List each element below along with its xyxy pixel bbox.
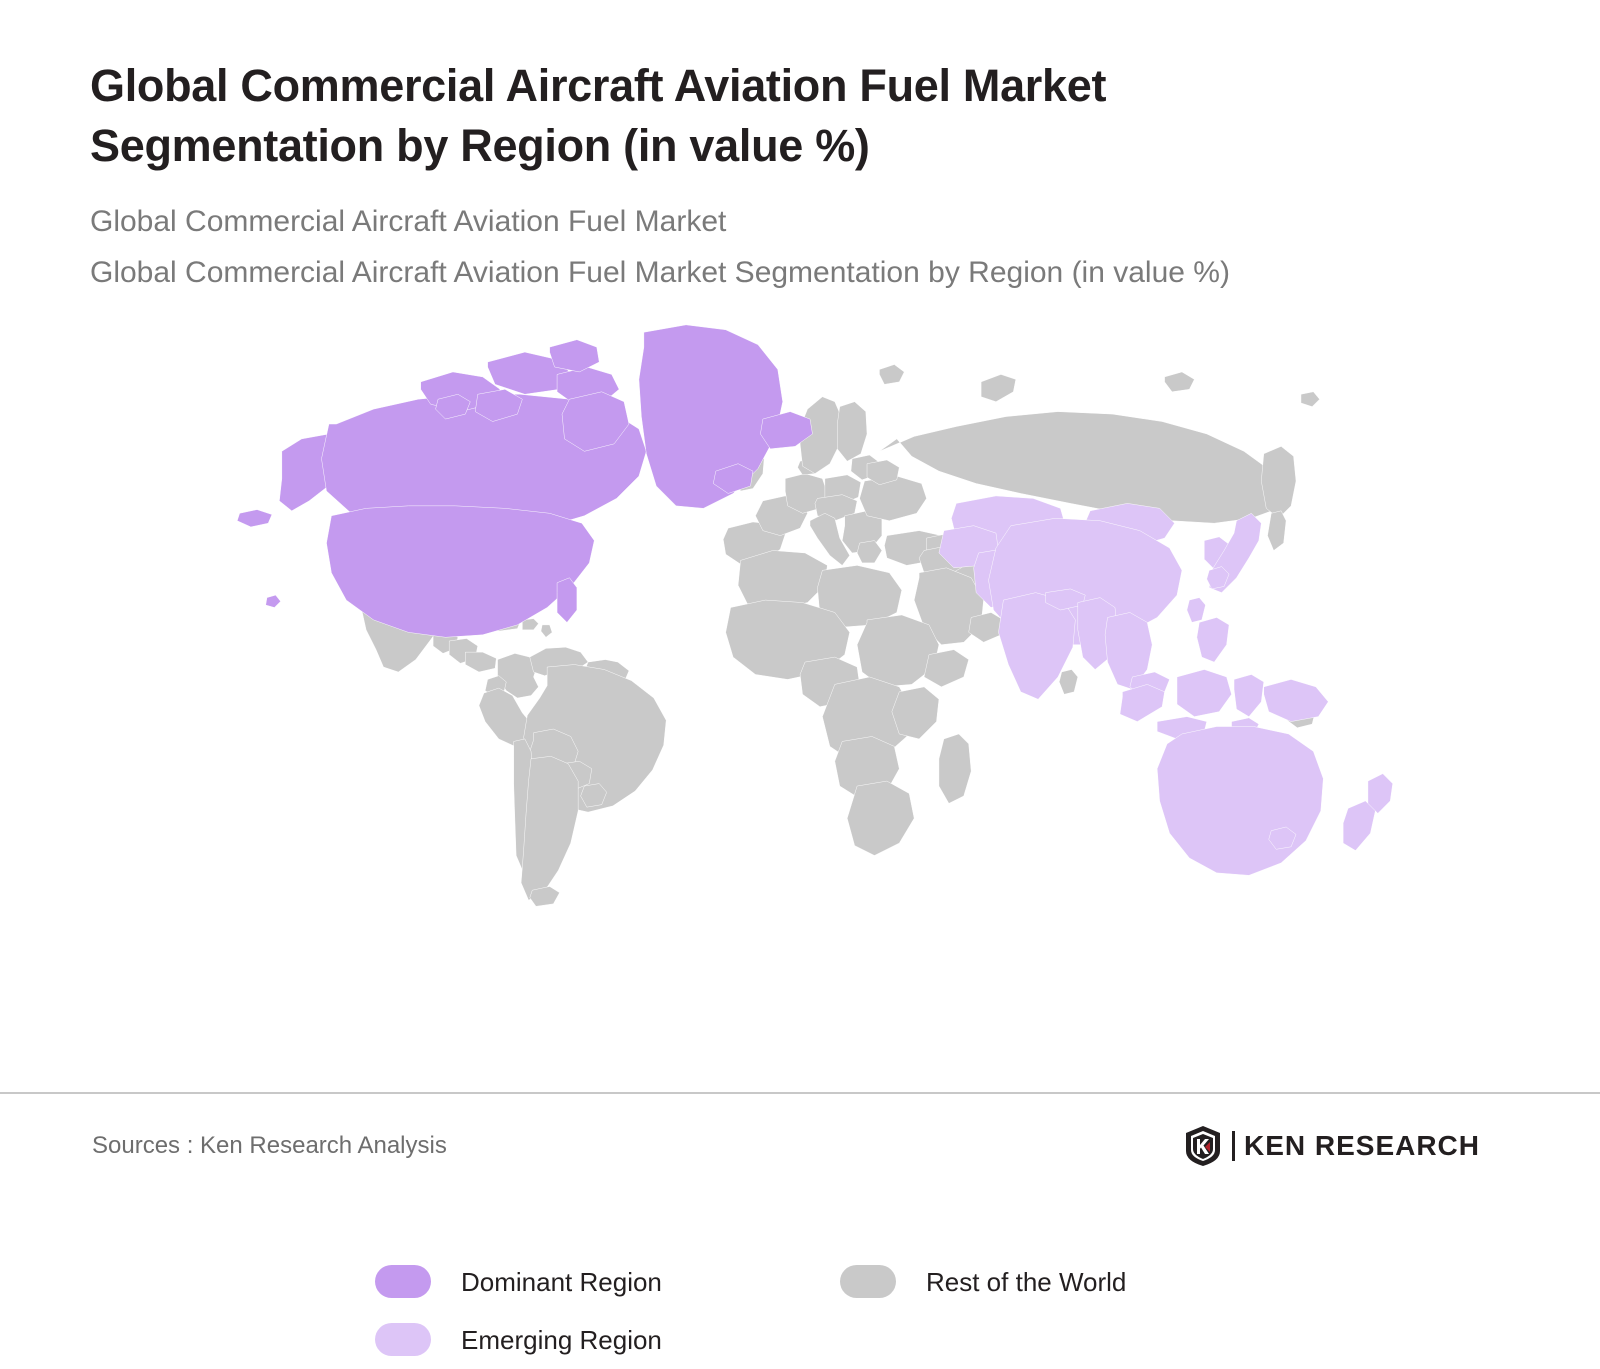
country-sakhalin [1268,511,1287,551]
subtitle-line-2: Global Commercial Aircraft Aviation Fuel… [90,247,1510,299]
brand-separator [1232,1131,1235,1161]
subtitle-line-1: Global Commercial Aircraft Aviation Fuel… [90,196,1510,248]
country-yemen-oman [969,612,1004,642]
country-greenland [639,325,783,508]
country-svalbard [879,364,904,384]
footer-content: Sources : Ken Research Analysis KEN RESE… [0,1092,1600,1200]
footer: Sources : Ken Research Analysis KEN RESE… [0,1092,1600,1200]
legend-item-rest-of-the-world[interactable]: Rest of the World [840,1265,1305,1298]
subtitle-block: Global Commercial Aircraft Aviation Fuel… [90,196,1510,299]
country-argentina [521,756,578,900]
country-new-siberian [1165,372,1195,392]
brand-name: KEN RESEARCH [1244,1132,1480,1160]
country-papua [1264,679,1328,721]
infographic-page: Global Commercial Aircraft Aviation Fuel… [0,0,1600,1200]
country-kamchatka [1261,446,1296,518]
country-sulawesi [1234,674,1264,716]
country-finland [837,402,867,462]
country-greece [857,540,882,562]
brand-logo: KEN RESEARCH [1184,1125,1572,1167]
legend-swatch-dominant-region [375,1265,431,1298]
country-taiwan [1187,597,1206,622]
legend-swatch-emerging-region [375,1323,431,1356]
legend-label-rest-of-the-world: Rest of the World [926,1269,1126,1295]
country-lesser-antilles [541,625,552,637]
legend-item-dominant-region[interactable]: Dominant Region [375,1265,840,1298]
country-australia [1157,726,1323,875]
country-wrangel [1301,392,1320,407]
header: Global Commercial Aircraft Aviation Fuel… [0,0,1600,299]
map-group-dominant-region [237,325,812,637]
country-borneo [1177,669,1232,716]
country-russia [879,412,1286,524]
ken-shield-k-icon [1184,1125,1222,1167]
country-philippines [1197,617,1229,662]
map-group-emerging-region [939,496,1393,875]
country-madagascar [939,734,971,803]
country-novaya-zemlya [981,374,1016,401]
world-map-svg [190,305,1430,915]
legend-label-emerging-region: Emerging Region [461,1327,662,1353]
country-aleutians [237,509,272,526]
country-costa-rica-panama [465,652,496,672]
legend-label-dominant-region: Dominant Region [461,1269,662,1295]
world-map-chart: Dominant Region Rest of the World Emergi… [0,305,1600,1200]
country-ellesmere [550,340,600,372]
country-southern-africa [847,781,914,855]
legend-swatch-rest-of-the-world [840,1265,896,1298]
country-romania-ukraine [860,476,927,521]
country-florida [557,578,577,623]
country-sumatra [1120,684,1165,721]
country-kenya-tanzania [892,687,939,739]
page-title: Global Commercial Aircraft Aviation Fuel… [90,56,1350,176]
country-horn-of-africa [924,650,969,687]
map-legend: Dominant Region Rest of the World Emergi… [375,1253,1275,1369]
country-new-zealand-south [1343,801,1375,851]
country-sri-lanka [1059,669,1078,694]
legend-item-emerging-region[interactable]: Emerging Region [375,1323,840,1356]
country-hawaii [266,595,281,607]
source-text: Sources : Ken Research Analysis [92,1132,447,1160]
